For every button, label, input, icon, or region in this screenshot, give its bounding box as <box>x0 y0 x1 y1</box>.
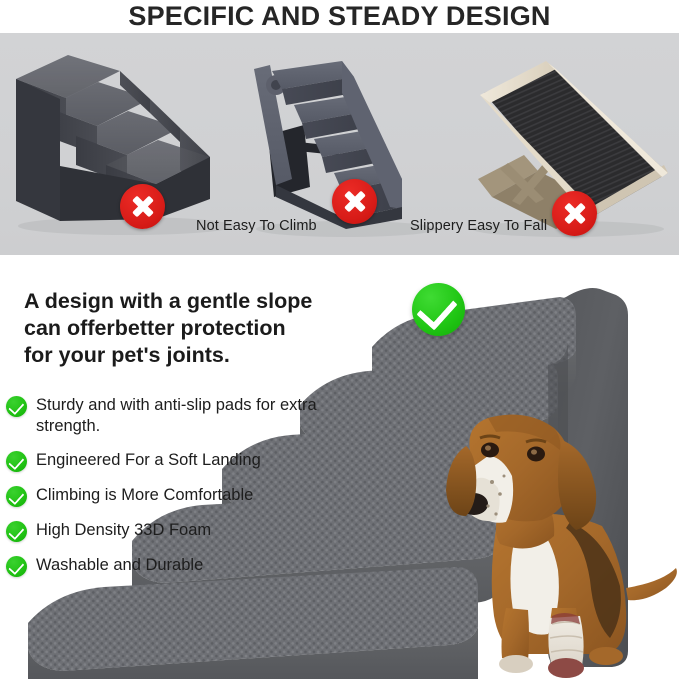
headline-line-1: A design with a gentle slope <box>24 288 354 315</box>
feature-item: Sturdy and with anti-slip pads for extra… <box>6 395 336 437</box>
check-icon <box>6 396 27 417</box>
x-badge-1 <box>120 184 165 229</box>
bad-label-1: Not Easy To Climb <box>196 218 317 234</box>
header-bar: SPECIFIC AND STEADY DESIGN <box>0 0 679 33</box>
feature-label: High Density 33D Foam <box>36 520 211 541</box>
feature-label: Washable and Durable <box>36 555 203 576</box>
infographic-page: SPECIFIC AND STEADY DESIGN <box>0 0 679 679</box>
check-icon <box>6 521 27 542</box>
bad-product-foam-box-stairs <box>8 41 236 241</box>
feature-item: High Density 33D Foam <box>6 520 336 542</box>
x-badge-3 <box>552 191 597 236</box>
promo-section: check-icon A design with a gentle slope … <box>0 255 679 679</box>
x-badge-2 <box>332 179 377 224</box>
check-icon <box>6 556 27 577</box>
page-title: SPECIFIC AND STEADY DESIGN <box>128 1 550 31</box>
bad-label-2: Slippery Easy To Fall <box>410 218 547 234</box>
comparison-panel: Not Easy To Climb <box>0 33 679 255</box>
promo-headline: A design with a gentle slope can offerbe… <box>24 288 354 369</box>
beagle-dog <box>430 410 679 679</box>
feature-item: Climbing is More Comfortable <box>6 485 336 507</box>
bad-product-plastic-folding-stairs <box>246 47 446 243</box>
headline-line-3: for your pet's joints. <box>24 342 354 369</box>
bad-product-wooden-carpet-ramp <box>452 51 674 243</box>
headline-line-2: can offerbetter protection <box>24 315 354 342</box>
feature-label: Engineered For a Soft Landing <box>36 450 261 471</box>
approved-check-icon <box>412 283 465 336</box>
feature-label: Sturdy and with anti-slip pads for extra… <box>36 395 328 437</box>
check-icon <box>6 451 27 472</box>
feature-list: Sturdy and with anti-slip pads for extra… <box>6 395 336 590</box>
feature-item: Washable and Durable <box>6 555 336 577</box>
feature-item: Engineered For a Soft Landing <box>6 450 336 472</box>
feature-label: Climbing is More Comfortable <box>36 485 253 506</box>
dog-illustration <box>430 410 679 679</box>
check-icon <box>6 486 27 507</box>
